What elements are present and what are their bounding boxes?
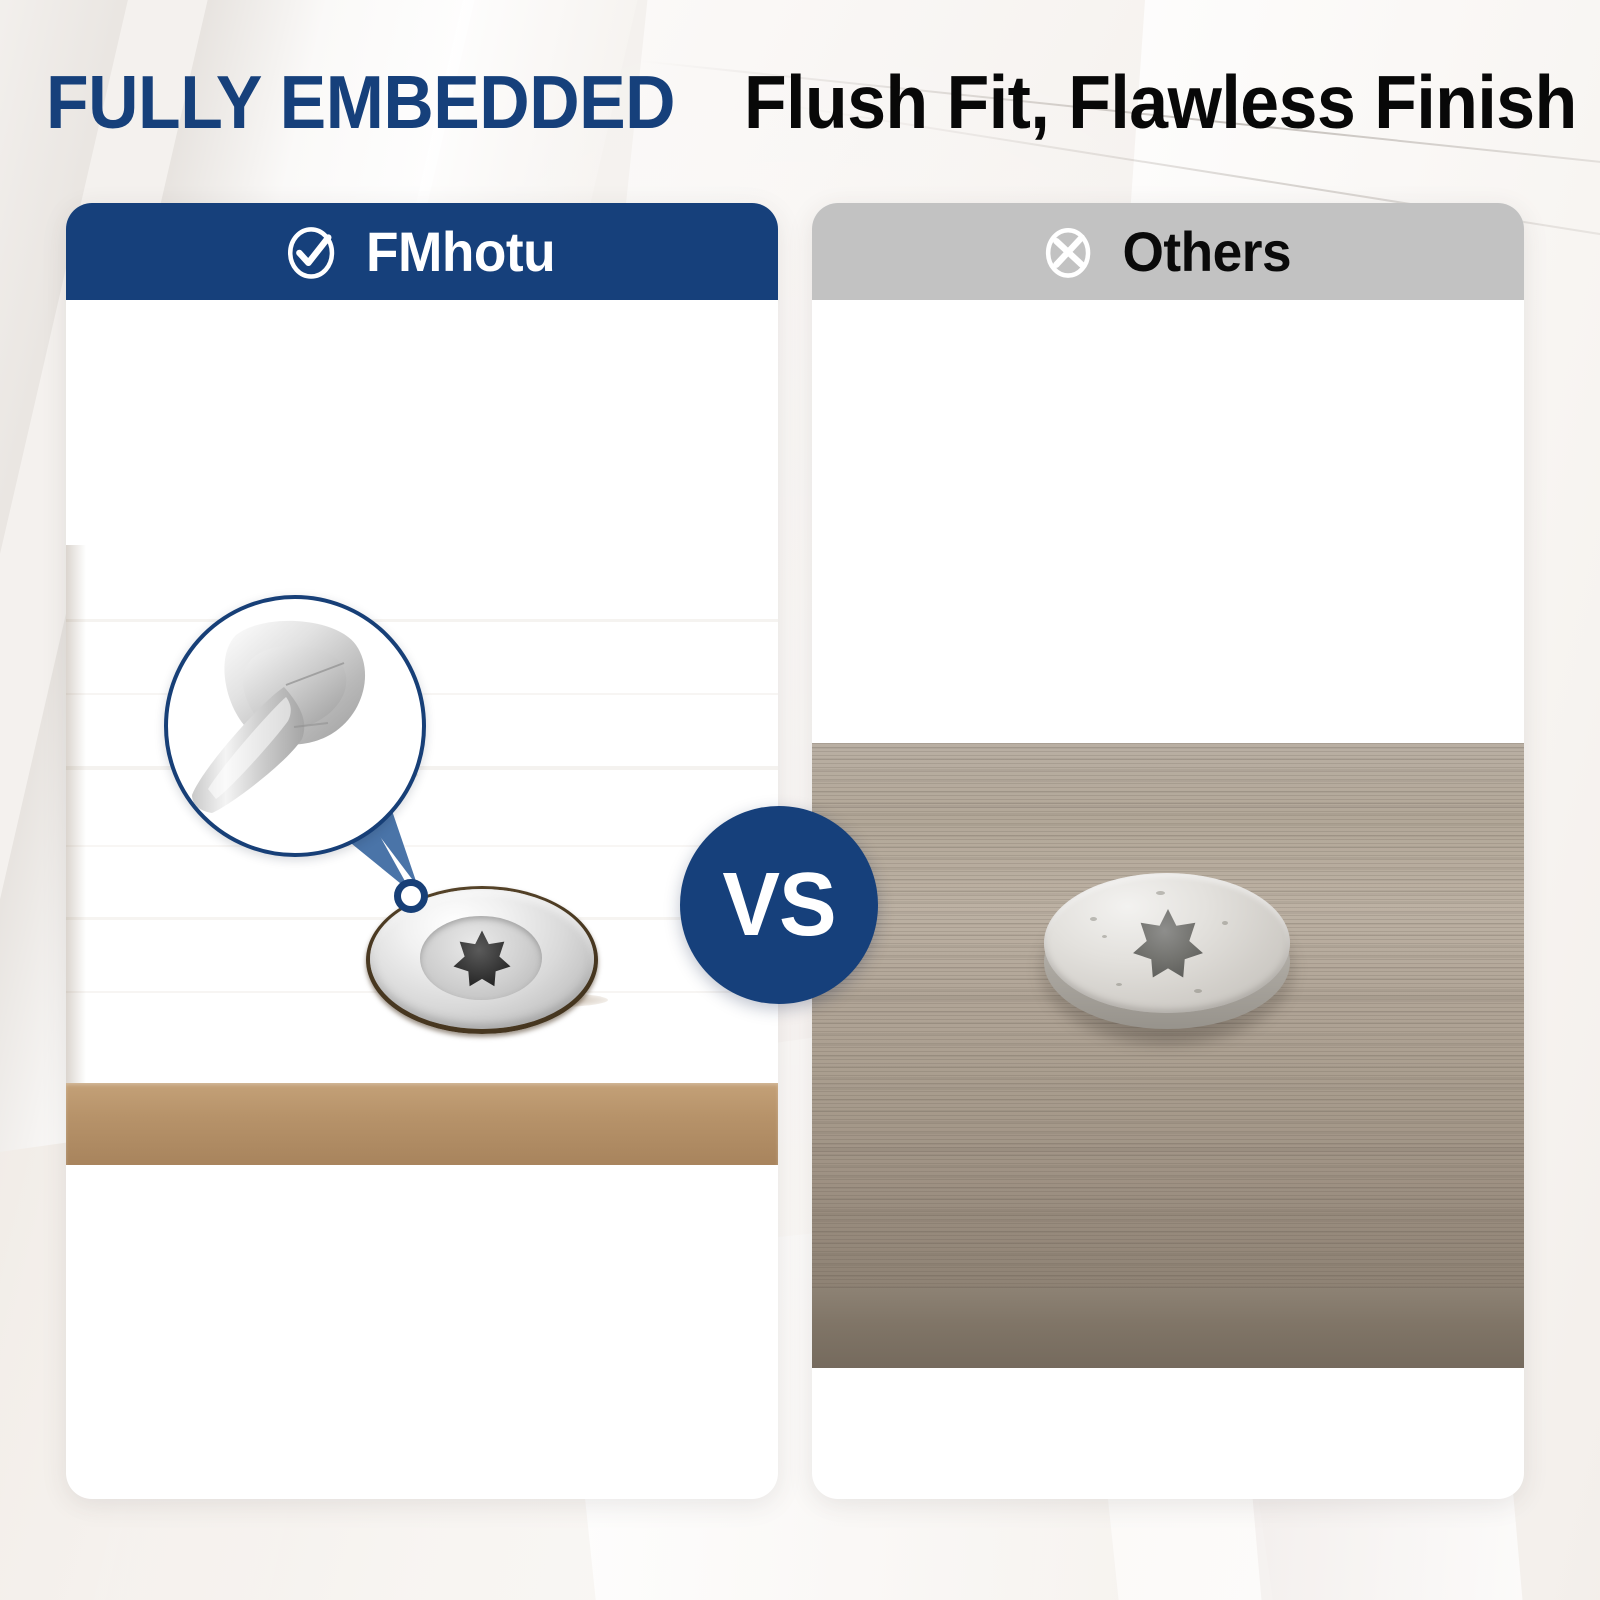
versus-badge: VS [680,806,878,1004]
card-header-fmhotu: FMhotu [66,203,778,300]
torx-star-drive-icon [1116,906,1220,982]
torx-star-drive-icon [440,928,524,990]
comparison-card-fmhotu: FMhotu [66,203,778,1499]
comparison-card-others: Others [812,203,1524,1499]
wood-front-edge [66,1083,778,1165]
circle-x-icon [1040,223,1098,281]
headline-emphasis: FULLY EMBEDDED [46,59,675,145]
flush-screw-head [366,886,598,1034]
card-header-others: Others [812,203,1524,300]
versus-label: VS [722,854,835,957]
card-header-label-others: Others [1123,219,1292,284]
headline: FULLY EMBEDDED Flush Fit, Flawless Finis… [46,52,1566,152]
card-header-label-fmhotu: FMhotu [366,219,555,284]
protruding-screw-head [1044,873,1290,1041]
circle-check-icon [283,223,341,281]
wood-front-edge [812,1288,1524,1368]
headline-subtext: Flush Fit, Flawless Finish [744,59,1577,145]
wood-board-gray [812,743,1524,1368]
wood-board-light-oak [66,545,778,1165]
